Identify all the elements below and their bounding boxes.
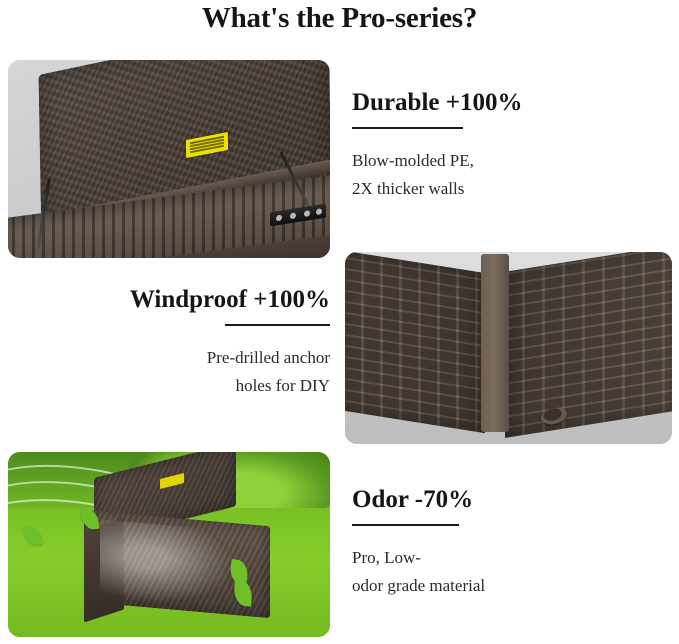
durable-underline-rule bbox=[352, 127, 463, 129]
windproof-feature-image bbox=[345, 252, 672, 444]
odor-underline-rule bbox=[352, 524, 459, 526]
durable-body-line-1: Blow-molded PE, bbox=[352, 147, 652, 175]
durable-heading: Durable +100% bbox=[352, 88, 652, 118]
odor-text-block: Odor -70% Pro, Low- odor grade material bbox=[352, 485, 652, 600]
odor-feature-image bbox=[8, 452, 330, 637]
odor-body: Pro, Low- odor grade material bbox=[352, 544, 652, 600]
windproof-body-line-1: Pre-drilled anchor bbox=[30, 344, 330, 372]
durable-body: Blow-molded PE, 2X thicker walls bbox=[352, 147, 652, 203]
rattan-panel-right bbox=[505, 252, 672, 438]
rattan-panel-left bbox=[345, 252, 485, 433]
windproof-text-block: Windproof +100% Pre-drilled anchor holes… bbox=[30, 285, 330, 400]
odor-body-line-2: odor grade material bbox=[352, 572, 652, 600]
windproof-underline-rule bbox=[225, 324, 330, 326]
fresh-air-mist bbox=[100, 519, 250, 618]
odor-body-line-1: Pro, Low- bbox=[352, 544, 652, 572]
durable-feature-image bbox=[8, 60, 330, 258]
infographic-page: What's the Pro-series? Durable +100% Blo… bbox=[0, 0, 679, 644]
durable-body-line-2: 2X thicker walls bbox=[352, 175, 652, 203]
durable-text-block: Durable +100% Blow-molded PE, 2X thicker… bbox=[352, 88, 652, 203]
odor-heading: Odor -70% bbox=[352, 485, 652, 515]
windproof-body-line-2: holes for DIY bbox=[30, 372, 330, 400]
page-title: What's the Pro-series? bbox=[0, 0, 679, 38]
windproof-body: Pre-drilled anchor holes for DIY bbox=[30, 344, 330, 400]
box-corner-edge bbox=[481, 254, 509, 432]
windproof-heading: Windproof +100% bbox=[30, 285, 330, 315]
